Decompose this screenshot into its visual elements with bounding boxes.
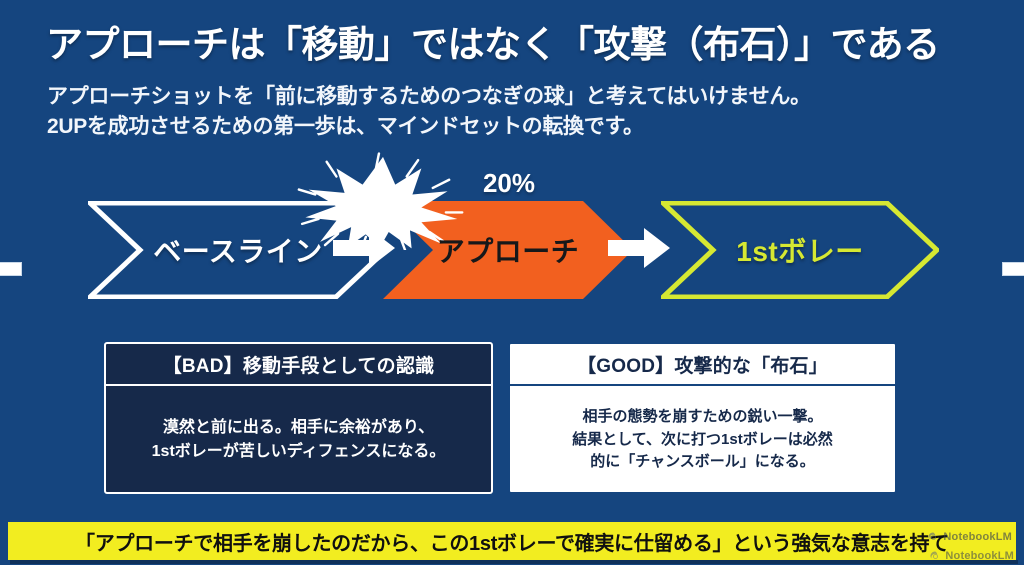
page-title: アプローチは「移動」ではなく「攻撃（布石）」である: [46, 14, 986, 68]
subtitle-line-1: アプローチショットを「前に移動するためのつなぎの球」と考えてはいけません。: [47, 82, 977, 112]
panel-heading: 【GOOD】攻撃的な「布石」: [510, 344, 895, 386]
process-flow: 20% ベースライン: [0, 168, 1024, 308]
flow-step-label: 1stボレー: [736, 230, 863, 270]
panel-body: 漠然と前に出る。相手に余裕があり、 1stボレーが苦しいディフェンスになる。: [106, 386, 491, 494]
right-arrow-icon: [333, 226, 395, 270]
notebooklm-watermark: NotebookLM: [927, 531, 1012, 543]
panel-heading: 【BAD】移動手段としての認識: [106, 344, 491, 386]
bottom-banner: 「アプローチで相手を崩したのだから、この1stボレーで確実に仕留める」という強気…: [8, 522, 1016, 560]
flow-step-label: アプローチ: [437, 230, 580, 270]
notebooklm-logo-icon: [929, 550, 941, 562]
panel-body-line-1: 漠然と前に出る。相手に余裕があり、: [163, 416, 434, 440]
banner-text: 「アプローチで相手を崩したのだから、この1stボレーで確実に仕留める」という強気…: [75, 527, 949, 556]
banner-shadow: [10, 560, 1018, 564]
subtitle-line-2: 2UPを成功させるための第一歩は、マインドセットの転換です。: [47, 112, 977, 142]
panel-body: 相手の態勢を崩すための鋭い一撃。 結果として、次に打つ1stボレーは必然 的に「…: [510, 386, 895, 494]
notebooklm-logo-icon: [927, 531, 939, 543]
panel-body-line-1: 相手の態勢を崩すための鋭い一撃。: [582, 406, 822, 429]
page-subtitle: アプローチショットを「前に移動するためのつなぎの球」と考えてはいけません。 2U…: [47, 82, 977, 142]
flow-step-label: ベースライン: [153, 230, 323, 270]
watermark-label: NotebookLM: [943, 531, 1012, 543]
panel-body-line-3: 的に「チャンスボール」になる。: [590, 451, 815, 474]
comparison-panel-good: 【GOOD】攻撃的な「布石」 相手の態勢を崩すための鋭い一撃。 結果として、次に…: [508, 342, 897, 494]
panel-body-line-2: 1stボレーが苦しいディフェンスになる。: [152, 440, 446, 464]
watermark-label: NotebookLM: [945, 550, 1014, 562]
panel-body-line-2: 結果として、次に打つ1stボレーは必然: [572, 429, 832, 452]
flow-step-first-volley[interactable]: 1stボレー: [661, 201, 939, 299]
flow-step-approach[interactable]: アプローチ: [383, 201, 633, 299]
notebooklm-watermark-secondary: NotebookLM: [929, 550, 1014, 562]
right-arrow-icon: [608, 226, 670, 270]
comparison-panel-bad: 【BAD】移動手段としての認識 漠然と前に出る。相手に余裕があり、 1stボレー…: [104, 342, 493, 494]
slide-canvas: アプローチは「移動」ではなく「攻撃（布石）」である アプローチショットを「前に移…: [0, 0, 1024, 565]
